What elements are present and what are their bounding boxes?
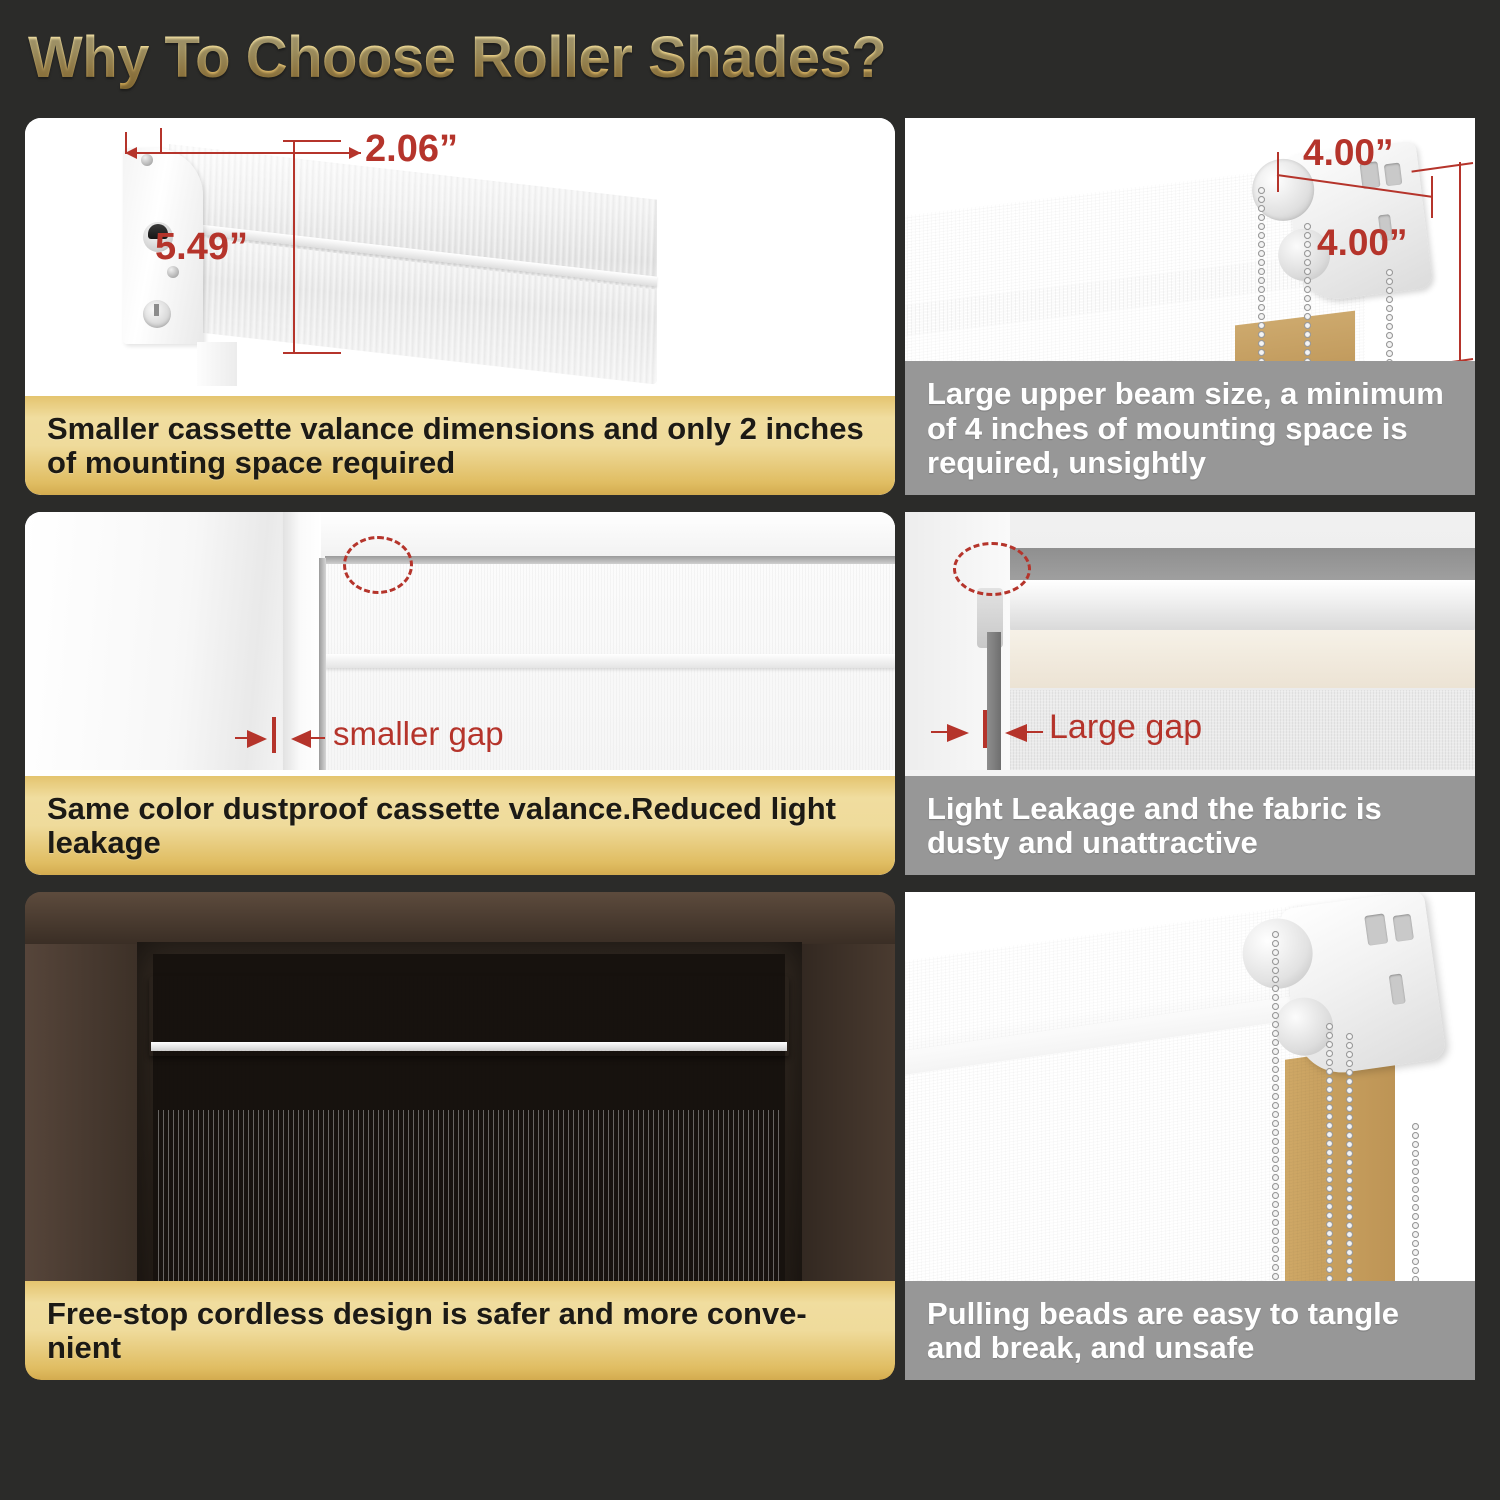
- highlight-circle-icon: [343, 536, 413, 594]
- dimension-label-width: 2.06”: [365, 128, 458, 171]
- caption-panel-6: Pulling beads are easy to tangle and bre…: [905, 1281, 1475, 1380]
- gap-shadow-bar: [987, 632, 1001, 770]
- shade-fabric-cream: [1010, 630, 1475, 688]
- panel-smaller-gap: smaller gap Same color dustproof cassett…: [25, 512, 895, 875]
- photo-dustproof-cassette: smaller gap: [25, 512, 895, 770]
- bracket-slot-icon: [1393, 914, 1414, 942]
- photo-cassette-valance: 2.06” 5.49”: [25, 118, 895, 386]
- shade-fabric-upper: [325, 564, 895, 656]
- panel-smaller-cassette: 2.06” 5.49” Smaller cassette valance dim…: [25, 118, 895, 495]
- panel-large-gap: Large gap Light Leakage and the fabric i…: [905, 512, 1475, 875]
- dimension-label-height: 5.49”: [155, 226, 248, 269]
- roller-tube: [1010, 580, 1475, 632]
- room-ceiling: [25, 892, 895, 944]
- caption-panel-5: Free-stop cordless design is safer and m…: [25, 1281, 895, 1380]
- bead-chain: [1257, 186, 1266, 388]
- bracket-slot-icon: [1364, 913, 1388, 945]
- panel-large-upper-beam: 4.00” 4.00” Large upper beam size, a min…: [905, 118, 1475, 495]
- caption-panel-2: Large upper beam size, a minimum of 4 in…: [905, 361, 1475, 495]
- comparison-grid: 2.06” 5.49” Smaller cassette valance dim…: [0, 0, 1500, 1500]
- highlight-circle-icon: [953, 542, 1031, 596]
- dimension-label-height: 4.00”: [1317, 222, 1408, 264]
- panel-cordless-design: Free-stop cordless design is safer and m…: [25, 892, 895, 1380]
- panel-pulling-beads: Pulling beads are easy to tangle and bre…: [905, 892, 1475, 1380]
- gap-label: Large gap: [1049, 708, 1202, 747]
- caption-panel-3: Same color dustproof cassette valance.Re…: [25, 776, 895, 875]
- valance-lower-lip: [149, 1050, 789, 1112]
- roller-bracket: [1235, 892, 1450, 1102]
- photo-light-leakage: Large gap: [905, 512, 1475, 770]
- screw-icon: [141, 154, 153, 166]
- caption-panel-4: Light Leakage and the fabric is dusty an…: [905, 776, 1475, 875]
- bracket-slot-icon: [1389, 973, 1406, 1005]
- dimension-label-width: 4.00”: [1303, 132, 1394, 174]
- caption-panel-1: Smaller cassette valance dimensions and …: [25, 396, 895, 495]
- shade-mid-rail: [325, 654, 895, 668]
- bracket-clip-icon: [143, 300, 171, 328]
- valance-mount-stem: [197, 342, 237, 386]
- gap-label: smaller gap: [333, 715, 504, 753]
- photo-large-beam: 4.00” 4.00”: [905, 118, 1475, 388]
